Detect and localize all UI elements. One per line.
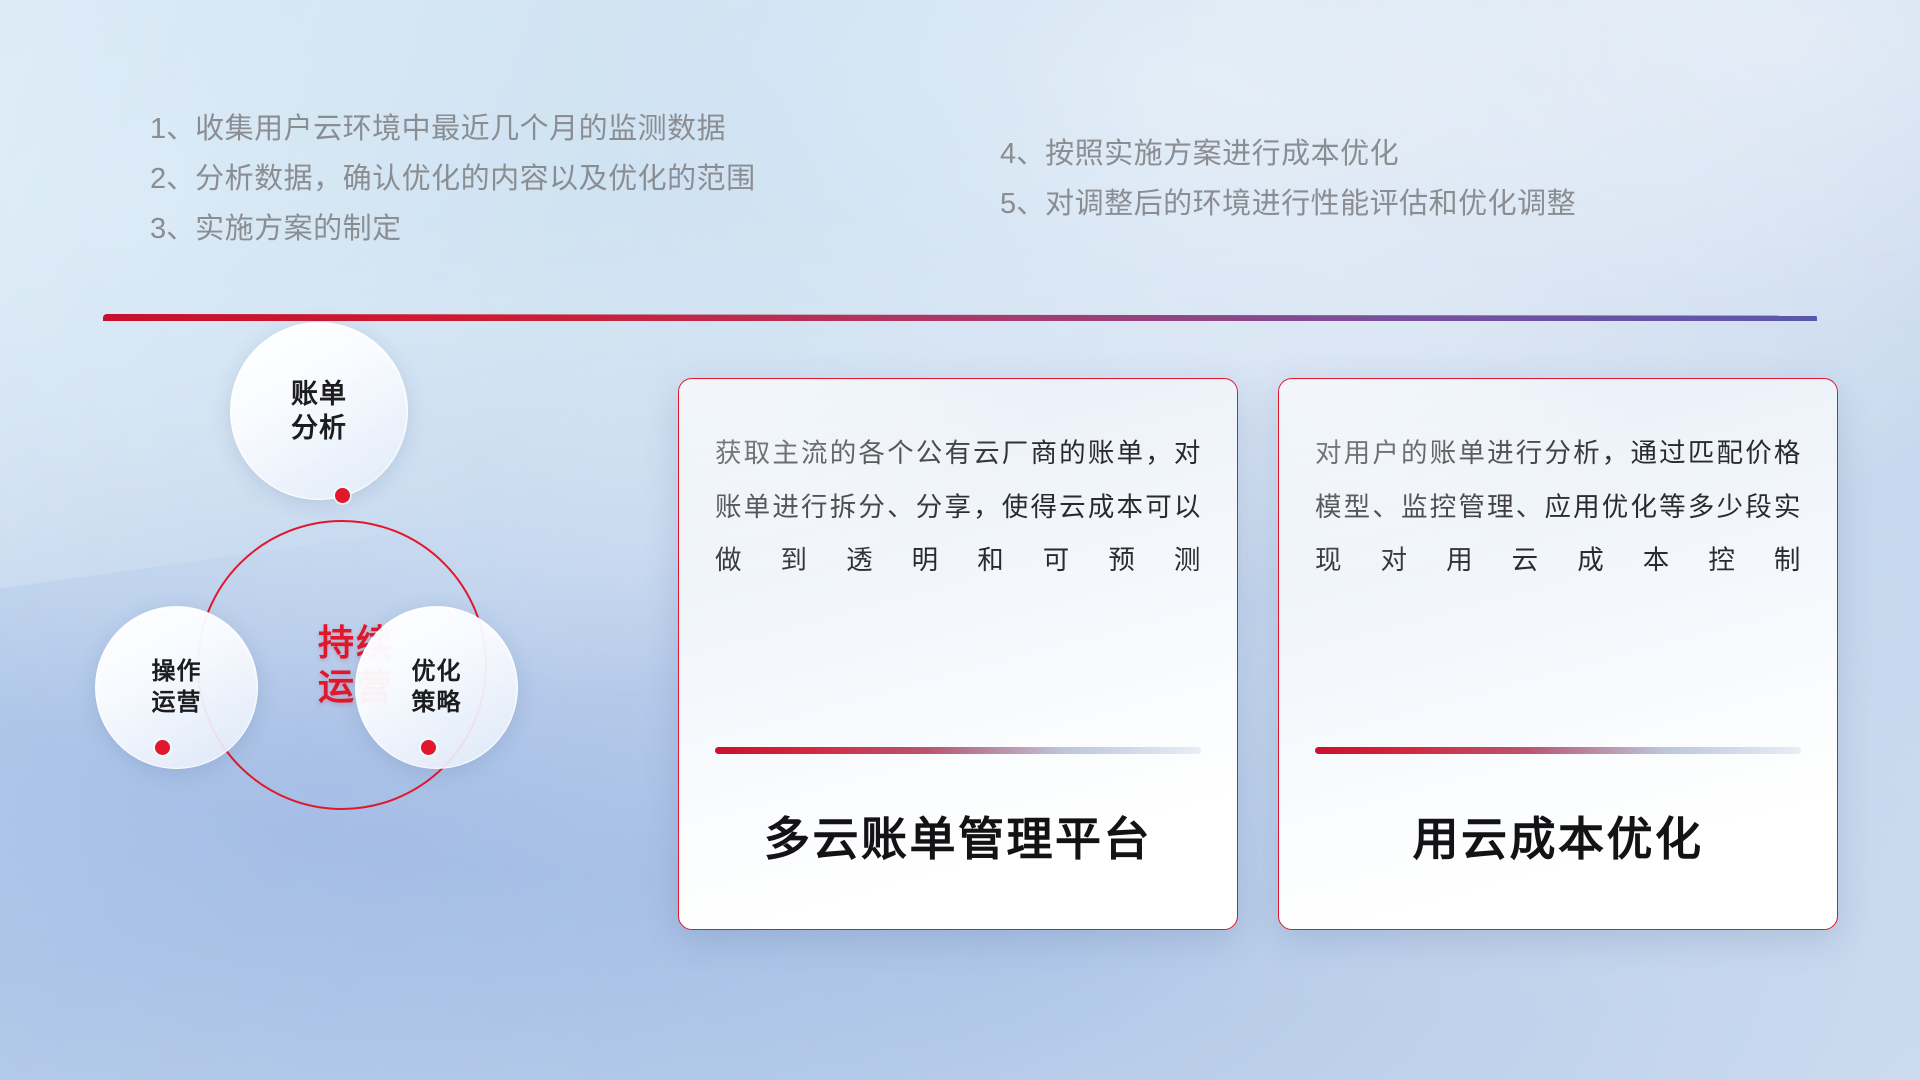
step-text: 按照实施方案进行成本优化 [1045,138,1399,170]
step-item-1: 1、收集用户云环境中最近几个月的监测数据 [150,105,726,147]
card-title: 用云成本优化 [1279,803,1837,869]
step-item-3: 3、实施方案的制定 [150,205,402,247]
card-accent-rule [715,747,1201,754]
step-list: 1、收集用户云环境中最近几个月的监测数据 2、分析数据，确认优化的内容以及优化的… [0,0,1920,260]
card-body-text: 获取主流的各个公有云厂商的账单，对账单进行拆分、分享，使得云成本可以做到透明和可… [715,427,1201,588]
step-text: 收集用户云环境中最近几个月的监测数据 [195,113,726,145]
step-number: 2、 [150,163,195,195]
step-number: 3、 [150,213,195,245]
card-accent-rule [1315,747,1801,754]
diagram-node-dot-top [335,488,350,503]
step-item-4: 4、按照实施方案进行成本优化 [1000,130,1399,172]
step-text: 对调整后的环境进行性能评估和优化调整 [1045,188,1576,220]
step-number: 1、 [150,113,195,145]
bubble-label-line-1: 优化 [412,658,462,685]
step-item-5: 5、对调整后的环境进行性能评估和优化调整 [1000,180,1576,222]
diagram-bubble-operations[interactable]: 操作 运营 [95,606,258,769]
bubble-label-line-1: 账单 [291,379,347,409]
step-number: 5、 [1000,188,1045,220]
diagram-node-dot-left [155,740,170,755]
bubble-label-line-2: 分析 [291,413,347,443]
bubble-label-line-2: 策略 [412,689,462,716]
feature-card-cost-optimization[interactable]: 对用户的账单进行分析，通过匹配价格模型、监控管理、应用优化等多少段实现对用云成本… [1278,378,1838,930]
cycle-diagram: 持续 运营 账单 分析 操作 运营 优化 策略 [85,340,585,940]
diagram-bubble-bill-analysis[interactable]: 账单 分析 [230,322,408,500]
diagram-node-dot-right [421,740,436,755]
step-text: 实施方案的制定 [195,213,402,245]
feature-card-multicloud-billing[interactable]: 获取主流的各个公有云厂商的账单，对账单进行拆分、分享，使得云成本可以做到透明和可… [678,378,1238,930]
bubble-label-line-1: 操作 [152,658,202,685]
step-text: 分析数据，确认优化的内容以及优化的范围 [195,163,756,195]
bubble-label-line-2: 运营 [152,689,202,716]
diagram-bubble-optimization-strategy[interactable]: 优化 策略 [355,606,518,769]
card-body-text: 对用户的账单进行分析，通过匹配价格模型、监控管理、应用优化等多少段实现对用云成本… [1315,427,1801,588]
step-item-2: 2、分析数据，确认优化的内容以及优化的范围 [150,155,756,197]
card-title: 多云账单管理平台 [679,803,1237,869]
step-number: 4、 [1000,138,1045,170]
